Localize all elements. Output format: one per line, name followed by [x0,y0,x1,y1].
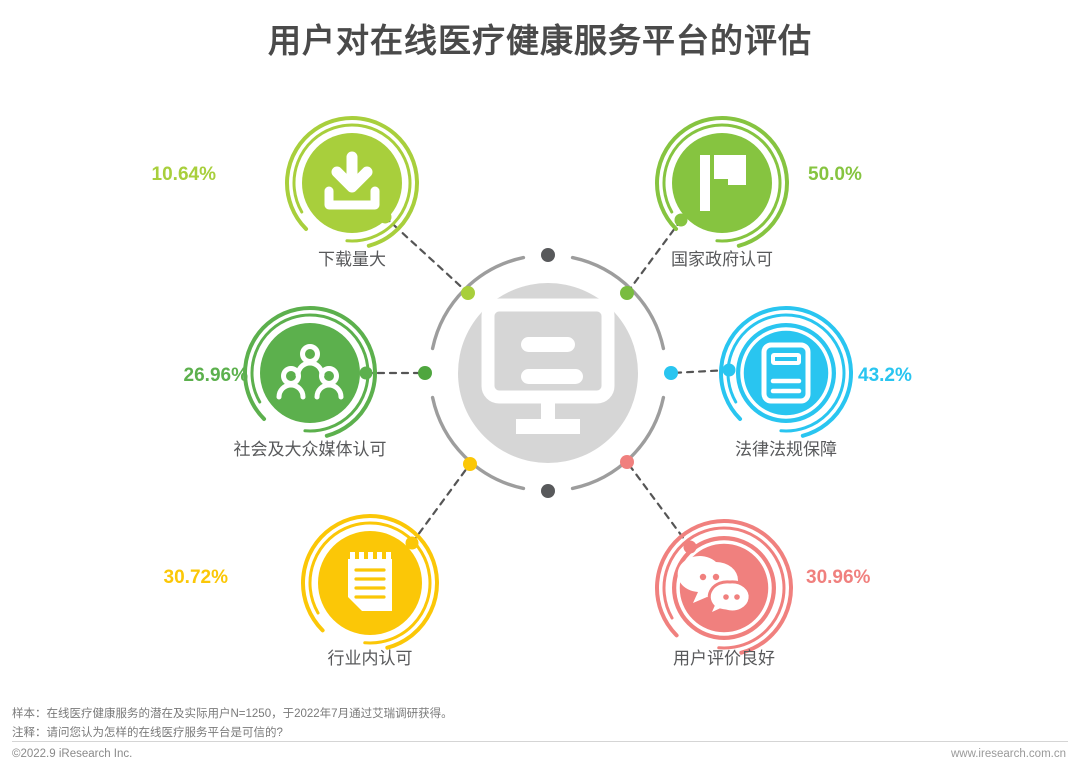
chat-dot-4 [734,594,740,600]
hub-marker-download [461,286,475,300]
node-connector-dot-society [360,367,373,380]
node-label-download: 下载量大 [172,251,532,268]
connector-line-reviews [627,462,690,547]
connector-line-industry [412,464,470,543]
node-label-reviews: 用户评价良好 [544,650,904,667]
node-percentage-government: 50.0% [808,165,1080,184]
hub-marker-government [620,286,634,300]
node-label-government: 国家政府认可 [542,251,902,268]
footnotes: 样本：在线医疗健康服务的潜在及实际用户N=1250，于2022年7月通过艾瑞调研… [12,705,1068,743]
node-percentage-society: 26.96% [0,366,248,385]
diagram-svg [0,0,1080,700]
node-download[interactable] [287,118,417,246]
notepad-tab-3 [377,552,382,561]
chat-dot-2 [713,574,719,580]
notepad-tab-2 [368,552,373,561]
node-government[interactable] [657,118,787,246]
node-percentage-reviews: 30.96% [806,568,1080,587]
monitor-base [516,419,580,434]
node-connector-dot-reviews [684,541,697,554]
website-url: www.iresearch.com.cn [951,748,1066,760]
hub-marker-society [418,366,432,380]
node-legal[interactable] [721,308,851,436]
node-connector-dot-legal [723,364,736,377]
chat-dot-3 [723,594,729,600]
node-reviews[interactable] [657,521,791,653]
node-circle-legal [736,323,836,423]
infographic-canvas: 用户对在线医疗健康服务平台的评估 10.64%下载量大50.0%国家政府认可26… [0,0,1080,771]
node-percentage-legal: 43.2% [858,366,1080,385]
node-industry[interactable] [303,516,437,648]
node-percentage-download: 10.64% [0,165,216,184]
copyright-text: ©2022.9 iResearch Inc. [12,748,132,760]
monitor-line-1 [521,337,575,352]
footnote-sample: 样本：在线医疗健康服务的潜在及实际用户N=1250，于2022年7月通过艾瑞调研… [12,705,1068,724]
node-connector-dot-industry [406,537,419,550]
monitor-line-2 [521,369,583,384]
hub-marker-bottom [541,484,555,498]
node-label-society: 社会及大众媒体认可 [130,441,490,458]
node-label-legal: 法律法规保障 [606,441,966,458]
footer-divider [12,741,1068,742]
node-society[interactable] [245,308,375,436]
node-label-industry: 行业内认可 [190,650,550,667]
notepad-tab-0 [350,552,355,561]
hub-marker-industry [463,457,477,471]
node-connector-dot-government [675,214,688,227]
flag-pole [700,155,710,211]
hub-marker-legal [664,366,678,380]
notepad-body [348,559,392,611]
notepad-icon [348,552,392,611]
notepad-tab-4 [386,552,391,561]
node-circle-society [260,323,360,423]
chat-bubble-small [709,582,750,615]
node-connector-dot-download [379,211,392,224]
node-percentage-industry: 30.72% [0,568,228,587]
chat-dot-1 [700,574,706,580]
notepad-tab-1 [359,552,364,561]
